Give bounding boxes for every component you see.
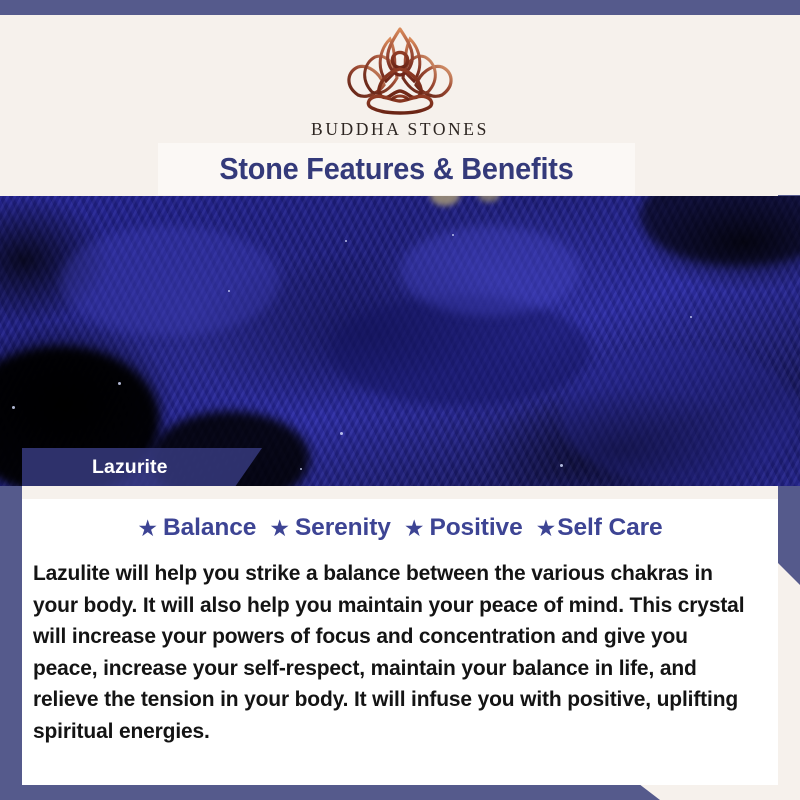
- stone-description: Lazulite will help you strike a balance …: [33, 558, 756, 748]
- panel-top-strip: [22, 486, 778, 499]
- brand-logo: BUDDHA STONES: [0, 23, 800, 140]
- benefit-label: Self Care: [557, 514, 662, 542]
- benefit-label: Positive: [429, 514, 522, 542]
- star-icon: ★: [137, 517, 158, 540]
- star-icon: ★: [536, 517, 557, 540]
- stone-name-banner: Lazurite: [22, 448, 262, 486]
- stone-photo: [0, 196, 800, 486]
- benefit-label: Balance: [163, 514, 256, 542]
- benefit-label: Serenity: [295, 514, 391, 542]
- title-banner: Stone Features & Benefits: [158, 143, 635, 195]
- page-title: Stone Features & Benefits: [219, 151, 573, 187]
- frame-left-bar: [0, 485, 22, 800]
- lotus-meditation-icon: [334, 23, 466, 115]
- benefit-item-self-care: ★ Self Care: [536, 514, 663, 542]
- poster-root: BUDDHA STONES Stone Features & Benefits …: [0, 0, 800, 800]
- content-panel: ★ Balance ★ Serenity ★ Positive ★ Self C…: [22, 486, 778, 785]
- star-icon: ★: [269, 517, 290, 540]
- brand-name: BUDDHA STONES: [311, 119, 489, 140]
- benefits-keyword-row: ★ Balance ★ Serenity ★ Positive ★ Self C…: [22, 514, 778, 542]
- benefit-item-balance: ★ Balance: [137, 514, 269, 542]
- stone-name-label: Lazurite: [92, 456, 168, 479]
- frame-top-bar: [0, 0, 800, 15]
- benefit-item-serenity: ★ Serenity: [269, 514, 404, 542]
- star-icon: ★: [404, 517, 425, 540]
- benefit-item-positive: ★ Positive: [404, 514, 536, 542]
